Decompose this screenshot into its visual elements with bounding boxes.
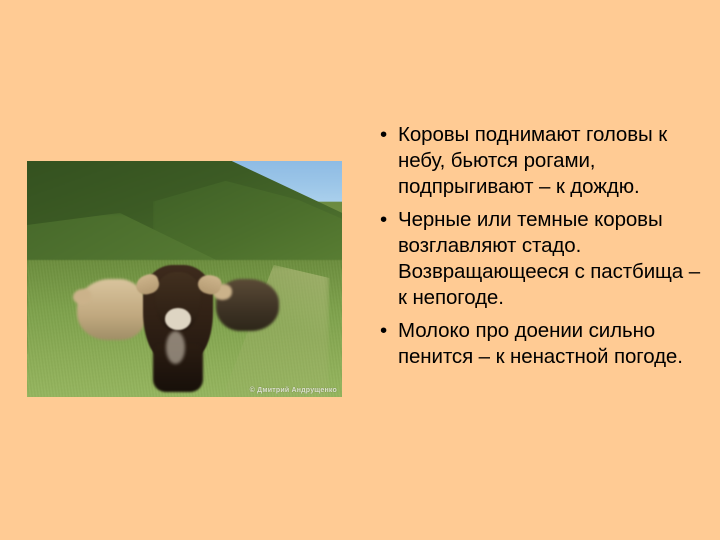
list-item: • Молоко про доении сильно пенится – к н…: [376, 318, 700, 370]
bullet-text: Молоко про доении сильно пенится – к нен…: [398, 319, 683, 368]
cow-pale-ear: [73, 289, 91, 304]
bullet-text: Коровы поднимают головы к небу, бьются р…: [398, 123, 667, 198]
slide: © Дмитрий Андрущенко • Коровы поднимают …: [0, 0, 720, 540]
list-item: • Черные или темные коровы возглавляют с…: [376, 207, 700, 311]
list-item: • Коровы поднимают головы к небу, бьются…: [376, 122, 700, 200]
cow-photograph: © Дмитрий Андрущенко: [27, 161, 342, 397]
bullet-point-icon: •: [380, 122, 387, 148]
cow-foreground: [134, 265, 222, 392]
photo-scene: [27, 161, 342, 397]
cow-foreground-muzzle: [165, 308, 191, 330]
cow-dark-background: [216, 279, 279, 331]
bullet-text: Черные или темные коровы возглавляют ста…: [398, 208, 700, 309]
bullet-point-icon: •: [380, 318, 387, 344]
bullet-list: • Коровы поднимают головы к небу, бьются…: [376, 122, 700, 370]
bullet-point-icon: •: [380, 207, 387, 233]
photo-watermark: © Дмитрий Андрущенко: [250, 387, 337, 394]
